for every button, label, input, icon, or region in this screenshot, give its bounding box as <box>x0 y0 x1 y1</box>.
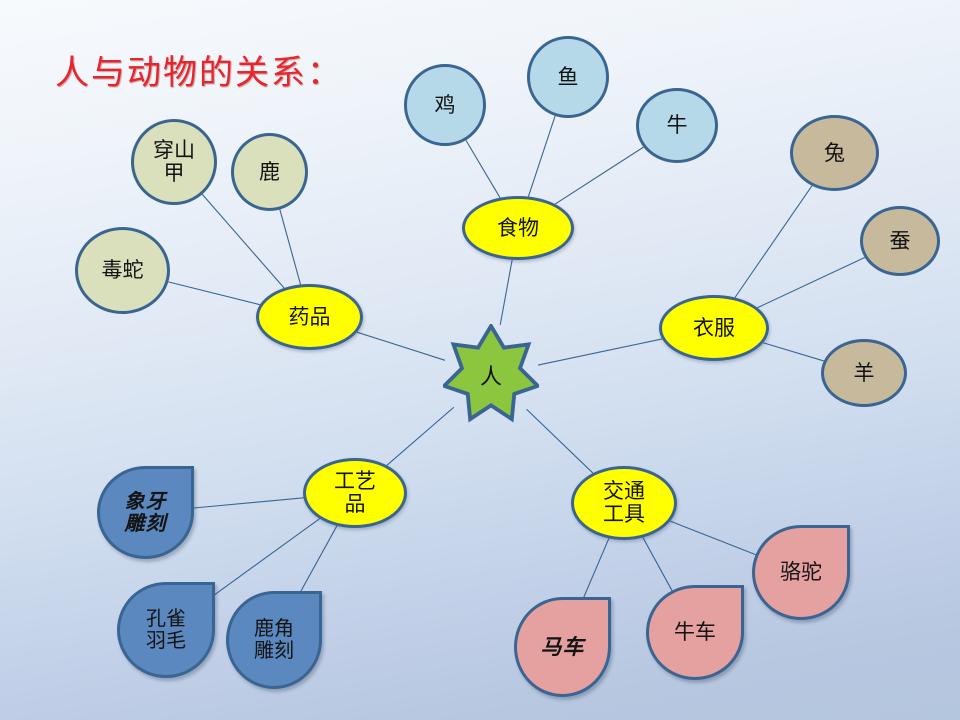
hub-node-label: 药品 <box>289 306 331 329</box>
connector-crafts-to-peacock <box>205 519 319 602</box>
leaf-node-label: 兔 <box>824 142 845 165</box>
connector-food-to-chicken <box>466 140 500 197</box>
hub-node-crafts[interactable]: 工艺 品 <box>303 458 407 528</box>
leaf-node-fish[interactable]: 鱼 <box>527 36 609 118</box>
page-title: 人与动物的关系： <box>55 45 343 94</box>
slide-canvas: 人与动物的关系： 人食物药品衣服工艺 品交通 工具鸡鱼牛穿山 甲鹿毒蛇兔蚕羊象牙… <box>0 0 960 720</box>
leaf-node-label: 象牙 雕刻 <box>125 491 167 534</box>
leaf-node-label: 骆驼 <box>780 561 822 584</box>
leaf-node-chicken[interactable]: 鸡 <box>404 64 486 146</box>
connector-crafts-to-ivory <box>194 498 304 508</box>
leaf-node-label: 牛 <box>667 114 688 137</box>
connector-food-to-fish <box>528 116 555 197</box>
leaf-node-antler[interactable]: 鹿角 雕刻 <box>226 591 322 689</box>
leaf-node-label: 毒蛇 <box>102 259 144 282</box>
leaf-node-label: 孔雀 羽毛 <box>146 608 186 651</box>
leaf-node-label: 牛车 <box>674 621 716 644</box>
leaf-node-pangolin[interactable]: 穿山 甲 <box>131 119 217 205</box>
hub-node-label: 衣服 <box>693 317 735 340</box>
connector-clothing-to-sheep <box>763 343 824 361</box>
connector-center-to-medicine <box>357 332 445 360</box>
connector-transport-to-horsecart <box>582 538 609 601</box>
leaf-node-label: 羊 <box>854 362 875 385</box>
hub-node-clothing[interactable]: 衣服 <box>659 295 769 361</box>
leaf-node-label: 蚕 <box>890 230 911 253</box>
leaf-node-ivory[interactable]: 象牙 雕刻 <box>97 466 194 559</box>
connector-center-to-food <box>500 260 512 325</box>
leaf-node-peacock[interactable]: 孔雀 羽毛 <box>117 582 215 678</box>
leaf-node-silkworm[interactable]: 蚕 <box>860 206 940 276</box>
leaf-node-camel[interactable]: 骆驼 <box>752 525 850 620</box>
leaf-node-label: 鹿 <box>259 161 280 184</box>
hub-node-food[interactable]: 食物 <box>462 196 574 260</box>
connector-center-to-clothing <box>538 339 662 365</box>
connector-medicine-to-snake <box>168 282 260 305</box>
connector-clothing-to-rabbit <box>735 186 812 298</box>
leaf-node-horsecart[interactable]: 马车 <box>514 597 611 697</box>
leaf-node-oxcart[interactable]: 牛车 <box>646 585 744 680</box>
hub-node-transport[interactable]: 交通 工具 <box>571 466 677 540</box>
leaf-node-label: 鸡 <box>435 94 456 117</box>
leaf-node-label: 马车 <box>541 636 585 659</box>
leaf-node-sheep[interactable]: 羊 <box>821 339 907 407</box>
leaf-node-label: 鹿角 雕刻 <box>254 618 294 661</box>
leaf-node-snake[interactable]: 毒蛇 <box>75 227 170 314</box>
leaf-node-label: 穿山 甲 <box>153 139 195 184</box>
center-node-person[interactable]: 人 <box>443 324 539 426</box>
hub-node-label: 食物 <box>497 217 539 240</box>
connector-medicine-to-deer <box>280 210 301 285</box>
leaf-node-label: 鱼 <box>558 66 579 89</box>
hub-node-medicine[interactable]: 药品 <box>256 284 363 350</box>
leaf-node-deer[interactable]: 鹿 <box>231 133 308 211</box>
connector-food-to-cow <box>555 147 643 204</box>
connector-transport-to-camel <box>670 521 755 555</box>
leaf-node-cow[interactable]: 牛 <box>636 88 718 163</box>
center-node-label: 人 <box>480 359 502 391</box>
connector-crafts-to-antler <box>298 526 337 597</box>
hub-node-label: 交通 工具 <box>603 480 645 525</box>
hub-node-label: 工艺 品 <box>334 470 376 515</box>
leaf-node-rabbit[interactable]: 兔 <box>790 115 879 191</box>
connector-transport-to-oxcart <box>643 538 672 591</box>
connector-clothing-to-silkworm <box>757 258 864 308</box>
